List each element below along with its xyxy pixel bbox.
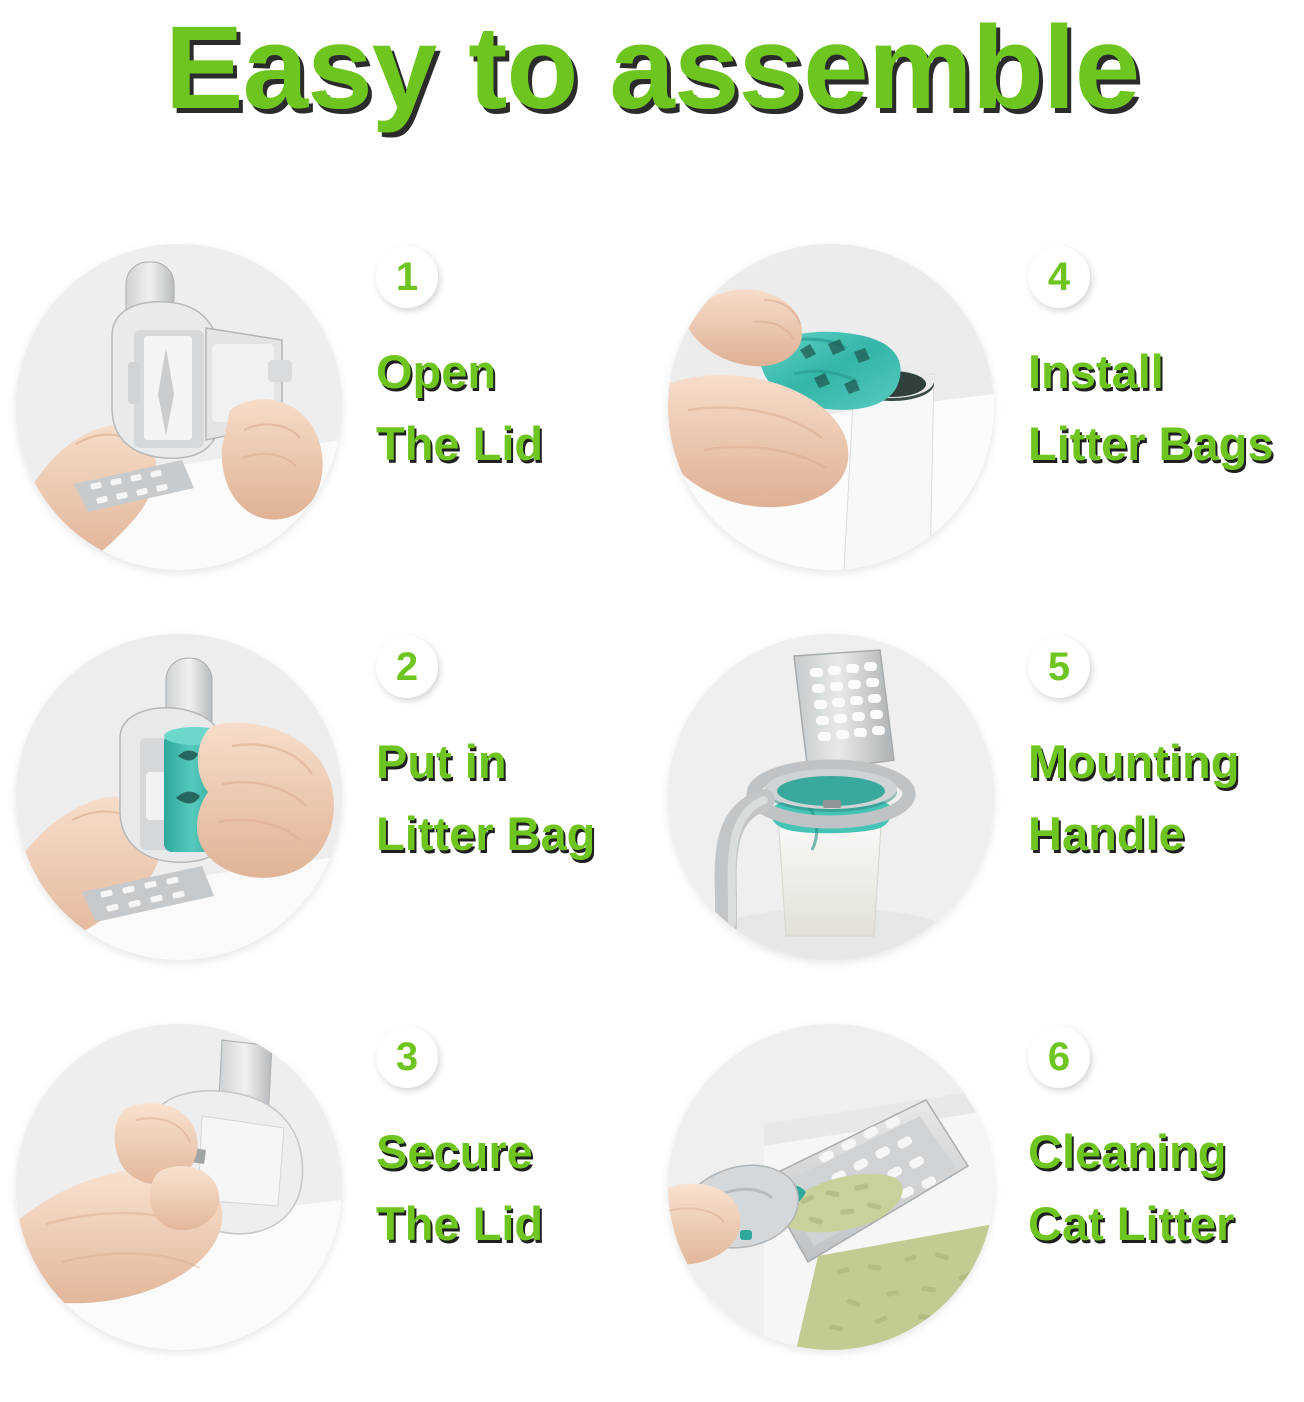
step-badge-5: 5 [1028, 636, 1090, 698]
step-label-line-2: Litter Bag [376, 798, 652, 870]
step-label-line-1: Install [1028, 336, 1304, 408]
step-card-3: 3 Secure The Lid [0, 1012, 652, 1402]
step-text-1: 1 Open The Lid [376, 246, 652, 480]
step-text-2: 2 Put in Litter Bag [376, 636, 652, 870]
step-label-line-1: Mounting [1028, 726, 1304, 798]
photo-mounting-handle [668, 634, 994, 960]
step-badge-6: 6 [1028, 1026, 1090, 1088]
step-label-line-2: The Lid [376, 408, 652, 480]
page-title: Easy to assemble [0, 6, 1304, 130]
photo-put-in-litter-bag [16, 634, 342, 960]
step-label-line-2: The Lid [376, 1188, 652, 1260]
step-text-6: 6 Cleaning Cat Litter [1028, 1026, 1304, 1260]
step-badge-3: 3 [376, 1026, 438, 1088]
step-card-4: 4 Install Litter Bags [652, 232, 1304, 622]
step-badge-4: 4 [1028, 246, 1090, 308]
photo-secure-the-lid [16, 1024, 342, 1350]
step-badge-1: 1 [376, 246, 438, 308]
step-text-4: 4 Install Litter Bags [1028, 246, 1304, 480]
photo-open-the-lid [16, 244, 342, 570]
step-label-line-2: Cat Litter [1028, 1188, 1304, 1260]
step-label-line-1: Cleaning [1028, 1116, 1304, 1188]
step-label-line-2: Handle [1028, 798, 1304, 870]
photo-cleaning-cat-litter [668, 1024, 994, 1350]
step-label-line-1: Secure [376, 1116, 652, 1188]
step-label-line-1: Put in [376, 726, 652, 798]
step-card-6: 6 Cleaning Cat Litter [652, 1012, 1304, 1402]
step-card-2: 2 Put in Litter Bag [0, 622, 652, 1012]
step-card-5: 5 Mounting Handle [652, 622, 1304, 1012]
photo-install-litter-bags [668, 244, 994, 570]
step-text-5: 5 Mounting Handle [1028, 636, 1304, 870]
step-card-1: 1 Open The Lid [0, 232, 652, 622]
steps-grid: 1 Open The Lid [0, 232, 1304, 1392]
step-label-line-2: Litter Bags [1028, 408, 1304, 480]
step-badge-2: 2 [376, 636, 438, 698]
step-text-3: 3 Secure The Lid [376, 1026, 652, 1260]
step-label-line-1: Open [376, 336, 652, 408]
